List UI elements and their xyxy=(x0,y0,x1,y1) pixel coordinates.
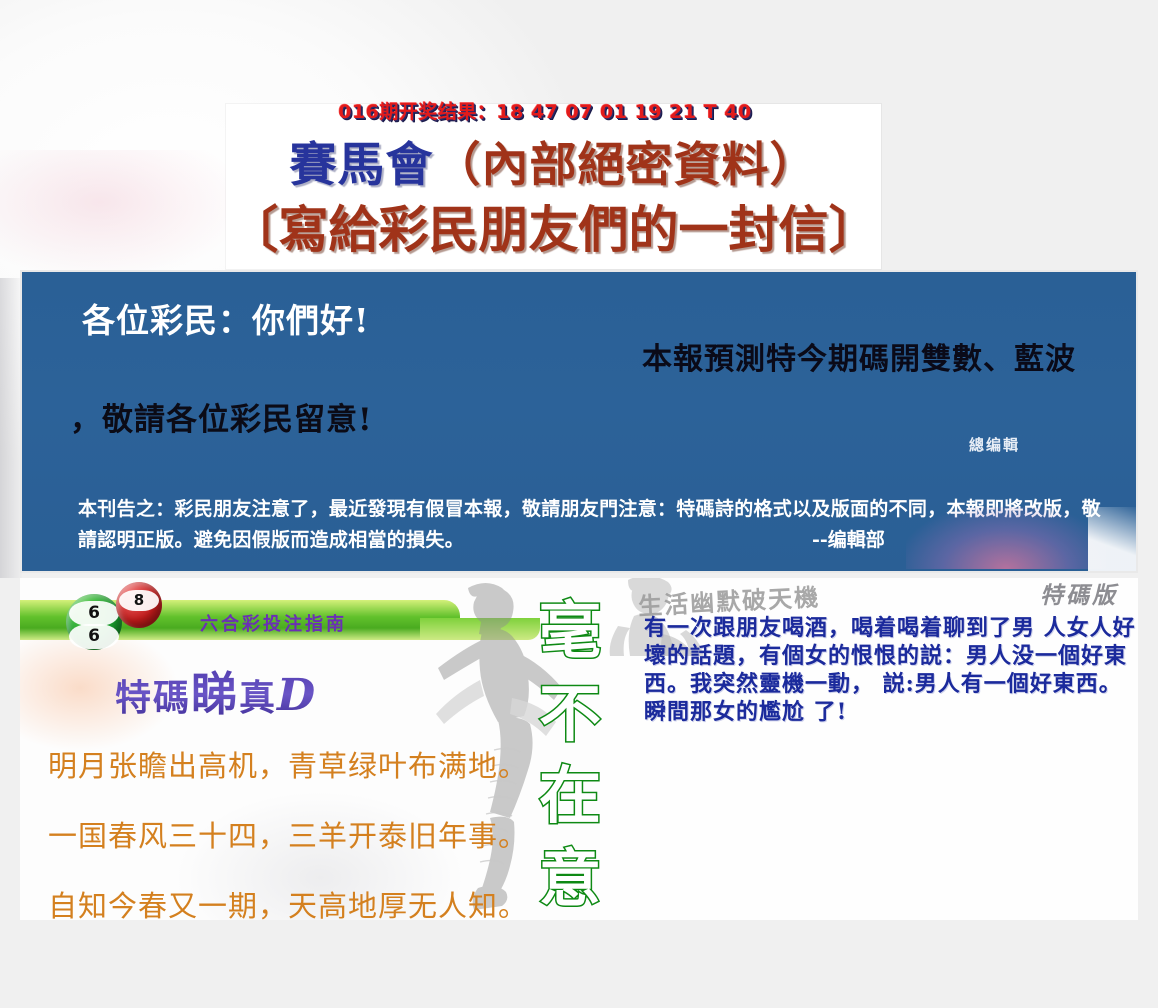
letter-prediction: 本報預測特今期碼開雙數、藍波 xyxy=(642,334,1076,378)
draw-results-strip: 016期开奖结果：18 47 07 01 19 21 T 40 xyxy=(330,96,760,124)
masthead-title-line2: 〔寫給彩民朋友們的一封信〕 xyxy=(226,190,881,262)
ball-band-top: 6 xyxy=(69,601,118,627)
vertical-headline: 毫 不 在 意 xyxy=(530,600,610,910)
lottery-ball-green-icon: 6 6 xyxy=(66,594,122,650)
letter-notice-signature: --编輯部 xyxy=(812,525,885,552)
page-canvas: 016期开奖结果：18 47 07 01 19 21 T 40 賽馬會（內部絕密… xyxy=(0,0,1158,1008)
tips-card: 6 6 8 六合彩投注指南 特碼睇真D xyxy=(20,578,600,920)
masthead-subtitle: （內部絕密資料） xyxy=(434,138,818,193)
draw-results-text: 016期开奖结果：18 47 07 01 19 21 T 40 xyxy=(338,97,752,124)
poem-line-3: 自知今春又一期，天高地厚无人知。 xyxy=(48,883,518,920)
brand-logo-mid: 真 xyxy=(239,677,277,719)
vertical-headline-char-3: 在 xyxy=(539,765,601,827)
masthead-banner: 賽馬會（內部絕密資料） 〔寫給彩民朋友們的一封信〕 xyxy=(226,104,881,269)
poem-line-2: 一国春风三十四，三羊开泰旧年事。 xyxy=(48,813,518,855)
ball-number-red: 8 xyxy=(134,593,144,608)
background-wash xyxy=(0,150,250,280)
ball-band-red: 8 xyxy=(119,590,159,611)
edition-badge: 特碼版 xyxy=(1040,582,1118,609)
joke-card: 生活幽默破天機 有一次跟朋友喝酒，喝着喝着聊到了男 人女人好壞的話題，有個女的恨… xyxy=(600,578,1138,920)
ball-number-green-2: 6 xyxy=(88,628,100,645)
vertical-headline-char-2: 不 xyxy=(539,683,601,745)
letter-editor-signature: 總编輯 xyxy=(969,434,1020,455)
panel-drop-shadow xyxy=(0,278,22,578)
joke-body-text: 有一次跟朋友喝酒，喝着喝着聊到了男 人女人好壞的話題，有個女的恨恨的説：男人没一… xyxy=(644,614,1138,726)
brand-logo-big: 睇 xyxy=(191,667,239,721)
brand-logo: 特碼睇真D xyxy=(115,658,317,724)
brand-logo-prefix: 特碼 xyxy=(115,677,191,719)
letter-notice-text: 本刊告之：彩民朋友注意了，最近發現有假冒本報，敬請朋友門注意：特碼詩的格式以及版… xyxy=(78,494,1118,556)
brand-logo-script-d: D xyxy=(277,670,317,721)
ribbon-label: 六合彩投注指南 xyxy=(200,610,347,636)
letter-panel: 各位彩民：你們好! 本報預測特今期碼開雙數、藍波 ，敬請各位彩民留意! 總编輯 … xyxy=(20,270,1138,573)
lottery-ball-red-icon: 8 xyxy=(116,582,162,628)
ball-band-bottom: 6 xyxy=(69,624,118,650)
poem-line-1: 明月张瞻出高机，青草绿叶布满地。 xyxy=(48,743,518,785)
masthead-org-name: 賽馬會 xyxy=(290,138,434,193)
letter-attention-note: ，敬請各位彩民留意! xyxy=(70,394,373,439)
vertical-headline-char-4: 意 xyxy=(539,848,601,910)
vertical-headline-char-1: 毫 xyxy=(539,600,601,662)
edition-badge-wrapper: 特碼版 xyxy=(1040,576,1118,610)
ball-number-green: 6 xyxy=(88,605,100,622)
letter-greeting: 各位彩民：你們好! xyxy=(82,294,370,342)
masthead-title-line1: 賽馬會（內部絕密資料） xyxy=(226,126,881,195)
